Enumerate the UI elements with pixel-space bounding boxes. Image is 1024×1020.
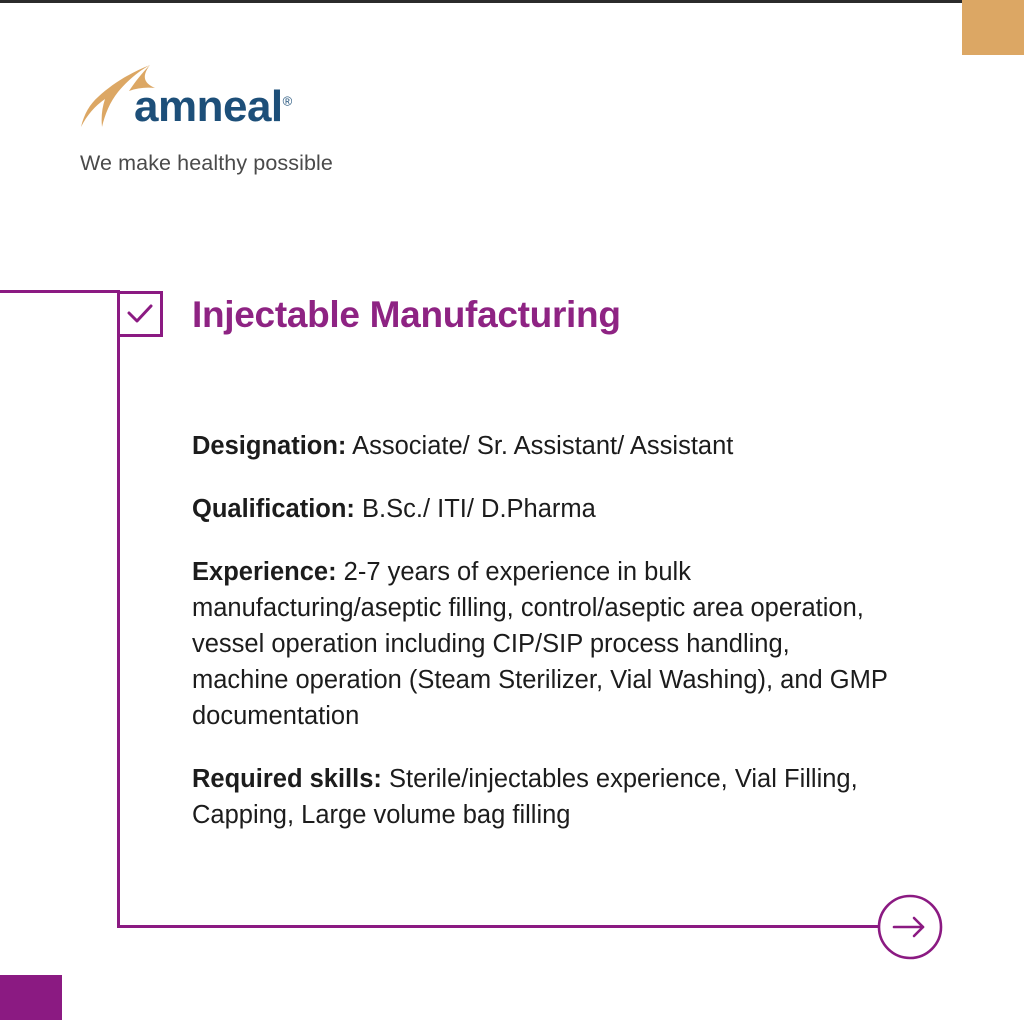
field-qualification-value: B.Sc./ ITI/ D.Pharma [355,495,596,523]
logo-lockup: amneal® [80,63,420,135]
field-experience-label: Experience: [192,558,337,586]
job-details: Designation: Associate/ Sr. Assistant/ A… [192,428,892,833]
page-title: Injectable Manufacturing [192,294,621,336]
brand-logo: amneal® We make healthy possible [80,63,420,135]
frame-line-top-left [0,290,120,293]
brand-wordmark: amneal® [134,85,292,129]
frame-line-bottom [117,925,880,928]
job-posting-slide: amneal® We make healthy possible Injecta… [0,0,1024,1020]
check-icon [117,291,163,337]
frame-line-vertical [117,290,120,927]
field-designation: Designation: Associate/ Sr. Assistant/ A… [192,428,892,464]
field-qualification-label: Qualification: [192,495,355,523]
field-qualification: Qualification: B.Sc./ ITI/ D.Pharma [192,491,892,527]
next-slide-button[interactable] [877,894,943,960]
corner-accent-tan [962,0,1024,55]
top-rule-divider [0,0,1024,3]
field-designation-label: Designation: [192,432,346,460]
field-required-skills-label: Required skills: [192,765,382,793]
field-experience: Experience: 2-7 years of experience in b… [192,554,892,734]
registered-trademark-icon: ® [283,93,292,108]
corner-accent-purple [0,975,62,1020]
field-required-skills: Required skills: Sterile/injectables exp… [192,761,892,833]
brand-tagline: We make healthy possible [80,151,333,176]
field-designation-value: Associate/ Sr. Assistant/ Assistant [346,432,733,460]
brand-wordmark-text: amneal [134,82,283,131]
